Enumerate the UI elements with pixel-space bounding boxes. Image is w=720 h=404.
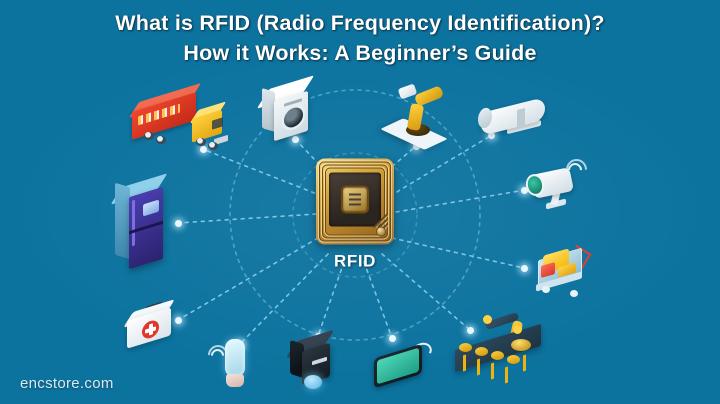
shopping-cart-icon: [530, 244, 596, 300]
smart-refrigerator-icon: [113, 182, 171, 278]
rfid-reader-icon: [288, 337, 342, 395]
industrial-robot-arm-icon: [385, 84, 459, 152]
cctv-camera-icon: [522, 159, 594, 217]
link-cart: [392, 238, 524, 268]
delivery-truck-icon: [130, 94, 238, 156]
storage-tank-icon: [477, 97, 561, 139]
conveyor-belt-icon: [453, 311, 557, 385]
link-node-dot: [521, 265, 528, 272]
link-camera: [396, 190, 525, 212]
link-reader: [318, 262, 344, 336]
center-node-rfid[interactable]: RFID: [316, 159, 394, 272]
watermark: encstore.com: [20, 375, 114, 392]
link-aidkit: [178, 238, 318, 320]
title-line-2: How it Works: A Beginner’s Guide: [0, 38, 720, 68]
page-title: What is RFID (Radio Frequency Identifica…: [0, 8, 720, 68]
link-lamp: [240, 254, 328, 344]
smartphone-nfc-icon: [372, 341, 434, 391]
link-node-dot: [175, 220, 182, 227]
center-node-label: RFID: [316, 252, 394, 272]
first-aid-kit-icon: [121, 304, 179, 356]
smart-sensor-lamp-icon: [211, 335, 257, 395]
rfid-infographic: What is RFID (Radio Frequency Identifica…: [0, 0, 720, 404]
washing-machine-icon: [262, 82, 318, 144]
title-line-1: What is RFID (Radio Frequency Identifica…: [0, 8, 720, 38]
rfid-chip-icon: [316, 159, 394, 245]
link-fridge: [178, 214, 316, 223]
link-truck: [205, 150, 322, 196]
